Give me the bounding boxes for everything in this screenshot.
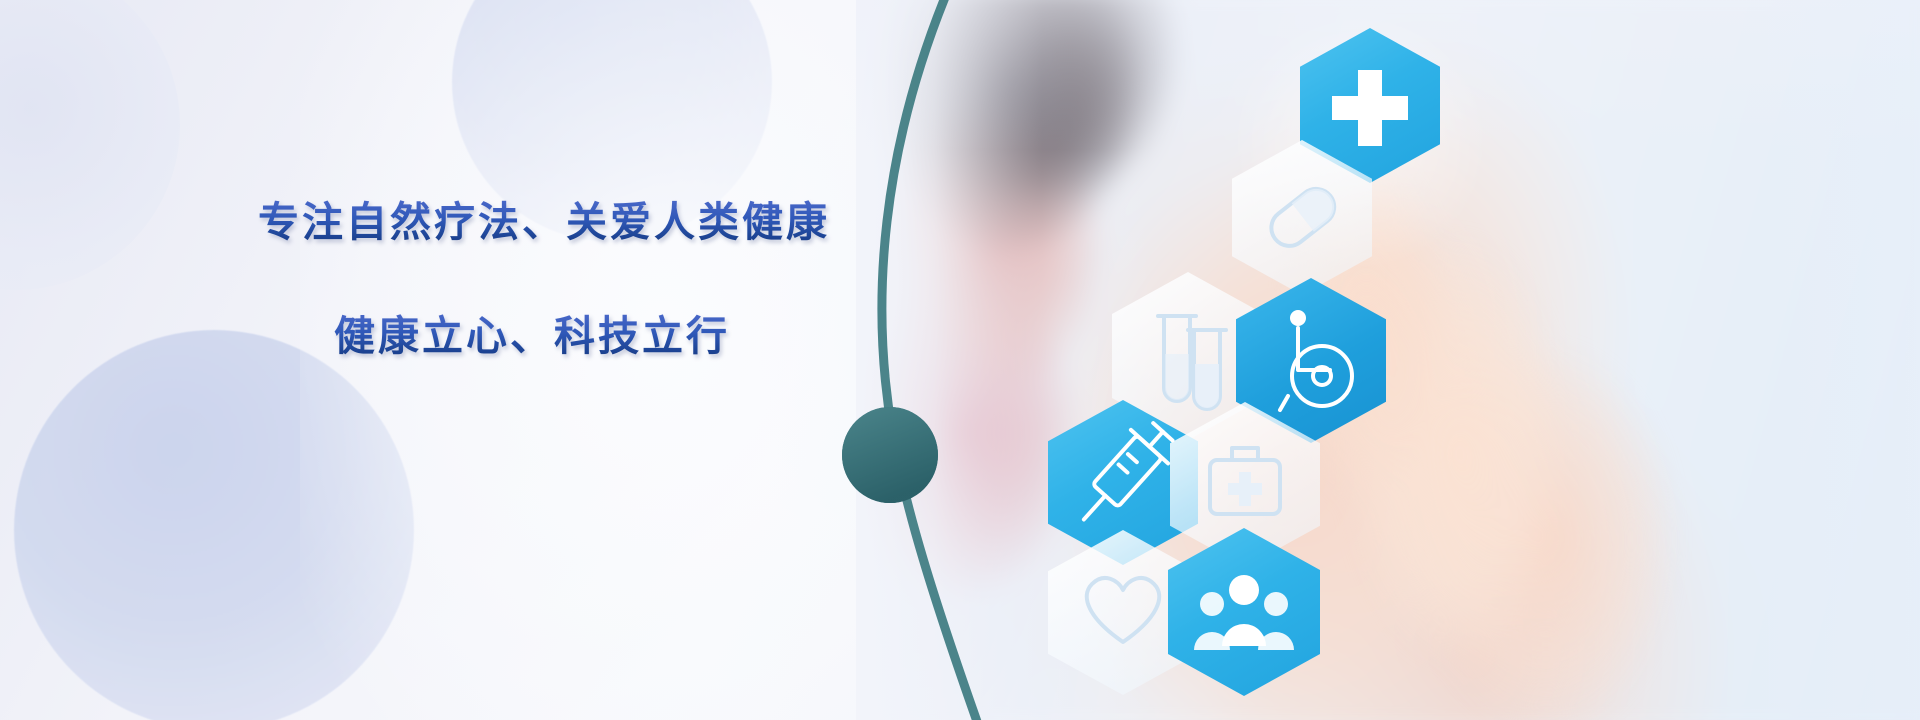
photo-fade-right: [1740, 0, 1920, 720]
headline-line-1: 专注自然疗法、关爱人类健康: [258, 188, 830, 248]
hexagon-icon-cluster: [900, 0, 1520, 720]
people-group-icon[interactable]: [1168, 528, 1320, 696]
headline-line-2: 健康立心、科技立行: [334, 302, 730, 362]
health-banner: 专注自然疗法、关爱人类健康 健康立心、科技立行: [0, 0, 1920, 720]
headline-block: 专注自然疗法、关爱人类健康 健康立心、科技立行: [0, 0, 860, 720]
